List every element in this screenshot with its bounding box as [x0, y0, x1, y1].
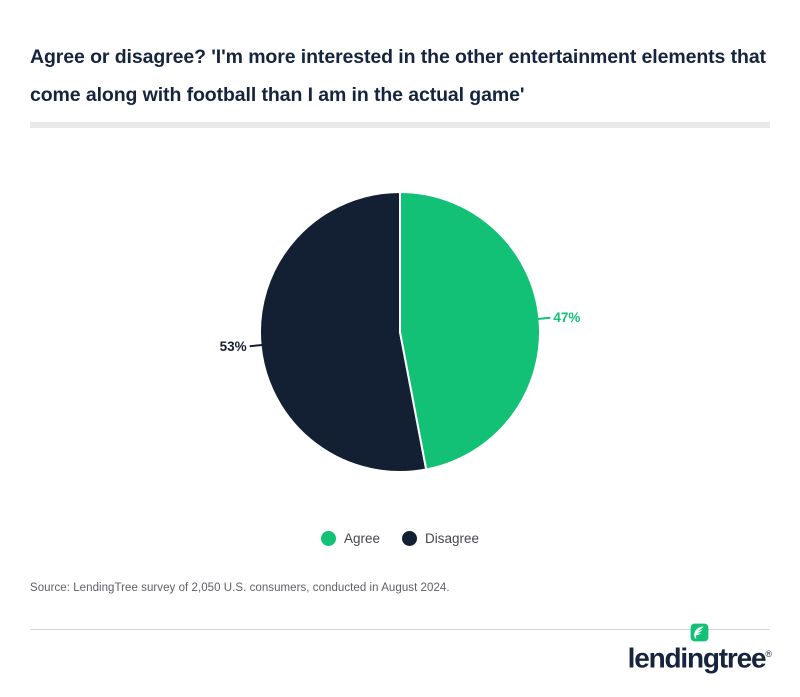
chart-title: Agree or disagree? 'I'm more interested …	[30, 38, 772, 114]
pie-slice-agree[interactable]	[400, 192, 540, 470]
legend-label-disagree: Disagree	[425, 531, 479, 546]
legend-swatch-agree-icon	[321, 531, 336, 546]
lendingtree-logo[interactable]: lendingtree®	[628, 640, 772, 672]
legend-label-agree: Agree	[344, 531, 380, 546]
footer-divider	[30, 629, 770, 630]
title-divider	[30, 122, 770, 128]
chart-card: Agree or disagree? 'I'm more interested …	[0, 0, 800, 697]
leaf-icon	[690, 623, 709, 642]
pie-chart-svg: 47% 53%	[0, 140, 800, 510]
logo-wordmark: lendingtree®	[628, 640, 772, 672]
legend-item-disagree[interactable]: Disagree	[402, 531, 479, 546]
legend-swatch-disagree-icon	[402, 531, 417, 546]
legend-item-agree[interactable]: Agree	[321, 531, 380, 546]
page-title: Agree or disagree? 'I'm more interested …	[30, 38, 772, 114]
pie-chart: 47% 53%	[0, 140, 800, 510]
slice-label-agree: 47%	[553, 310, 580, 325]
logo-registered-mark: ®	[765, 649, 772, 659]
chart-legend: Agree Disagree	[0, 531, 800, 546]
logo-wordmark-text: lendingtree	[628, 642, 766, 673]
source-note: Source: LendingTree survey of 2,050 U.S.…	[30, 582, 450, 594]
slice-label-disagree: 53%	[220, 339, 247, 354]
